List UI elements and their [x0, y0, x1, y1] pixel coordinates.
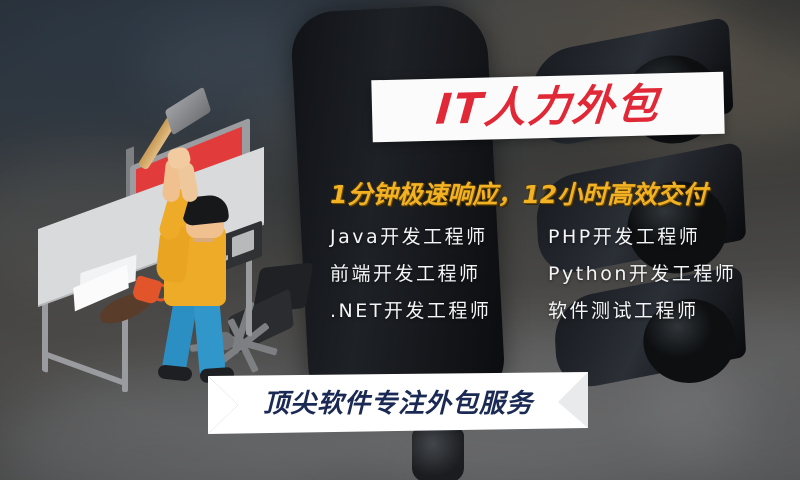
page-title: IT人力外包 — [434, 83, 662, 131]
service-list: Java开发工程师 PHP开发工程师 前端开发工程师 Python开发工程师 .… — [330, 222, 782, 333]
ribbon-slogan: 顶尖软件专注外包服务 — [208, 370, 588, 432]
promo-banner: ERROR IT人力外包 — [0, 0, 800, 480]
title-banner: IT人力外包 — [371, 72, 724, 143]
ribbon-banner: 顶尖软件专注外包服务 — [208, 372, 588, 434]
service-item: PHP开发工程师 — [548, 222, 776, 249]
desk-leg — [122, 314, 128, 392]
person-shoe — [157, 364, 192, 381]
service-item: 软件测试工程师 — [548, 296, 776, 323]
desk-scene-illustration: ERROR — [18, 96, 318, 396]
service-item: Java开发工程师 — [330, 222, 548, 249]
service-row: Java开发工程师 PHP开发工程师 — [330, 222, 782, 249]
service-row: .NET开发工程师 软件测试工程师 — [330, 296, 782, 323]
subtitle-tagline: 1分钟极速响应，12小时高效交付 — [330, 175, 790, 211]
service-item: 前端开发工程师 — [330, 259, 548, 286]
service-item: .NET开发工程师 — [330, 296, 548, 323]
service-item: Python开发工程师 — [548, 259, 776, 286]
service-row: 前端开发工程师 Python开发工程师 — [330, 259, 782, 286]
desk-crossbar — [44, 351, 128, 388]
